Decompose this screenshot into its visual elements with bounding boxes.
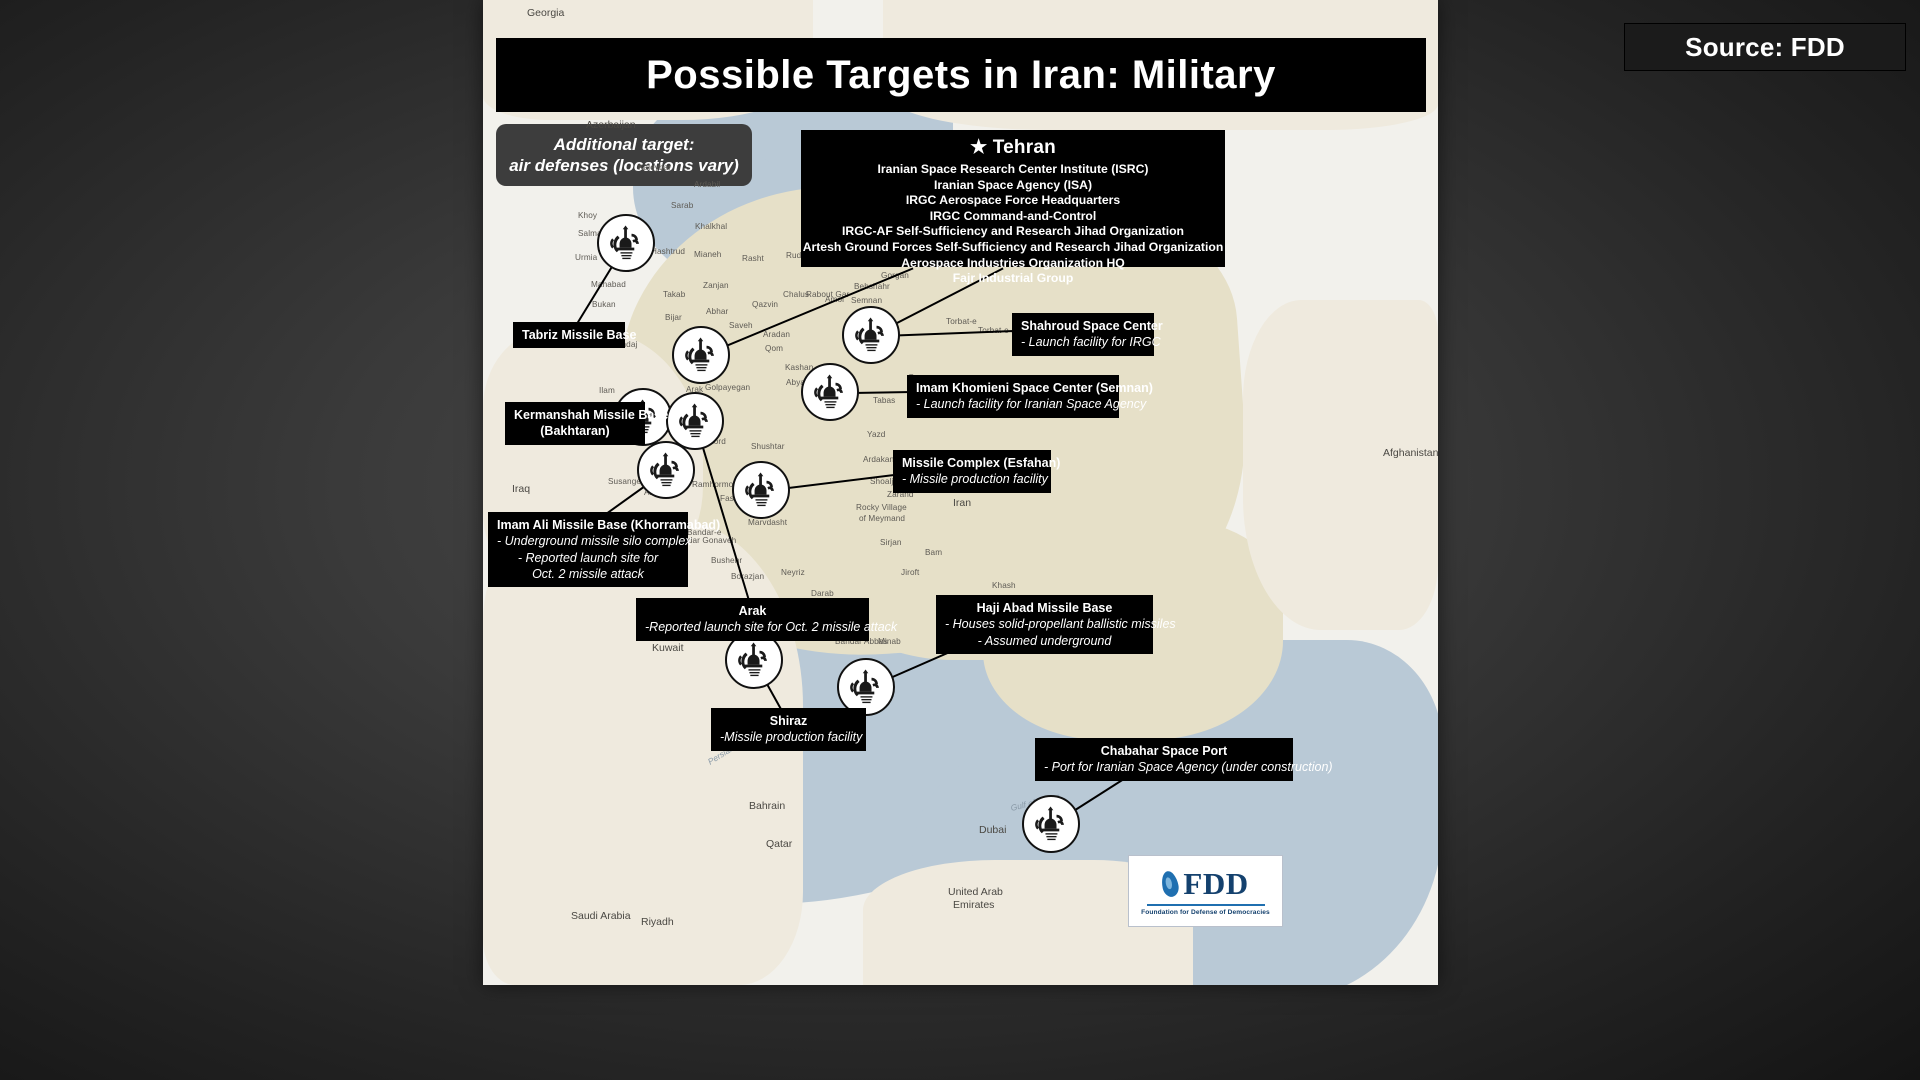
callout-shahroud: Shahroud Space Center- Launch facility f… bbox=[1012, 313, 1154, 356]
map-country-label: Kuwait bbox=[652, 642, 684, 654]
map-place-label: Minab bbox=[878, 637, 901, 646]
irgc-emblem-icon bbox=[678, 332, 724, 378]
callout-line: - Port for Iranian Space Agency (under c… bbox=[1044, 759, 1284, 775]
tehran-item: Artesh Ground Forces Self-Sufficiency an… bbox=[801, 240, 1225, 256]
map-place-label: Rocky Village bbox=[856, 503, 907, 512]
map-place-label: Zanjan bbox=[703, 281, 729, 290]
callout-line: - Underground missile silo complex bbox=[497, 533, 679, 549]
map-country-label: Georgia bbox=[527, 7, 564, 19]
fdd-tagline: Foundation for Defense of Democracies bbox=[1141, 909, 1270, 916]
marker-qazvin[interactable] bbox=[672, 326, 730, 384]
map-place-label: Tabas bbox=[873, 396, 895, 405]
callout-line: -Missile production facility bbox=[720, 729, 857, 745]
marker-imam-ali[interactable] bbox=[637, 441, 695, 499]
map-place-label: Ardabil bbox=[694, 180, 720, 189]
map-place-label: Qazvin bbox=[752, 300, 778, 309]
map-place-label: Khoy bbox=[578, 211, 597, 220]
map-country-label: Qatar bbox=[766, 838, 792, 850]
callout-line: Missile Complex (Esfahan) bbox=[902, 455, 1042, 471]
map-country-label: Bahrain bbox=[749, 800, 785, 812]
map-country-label: Dubai bbox=[979, 824, 1006, 836]
callout-line: Haji Abad Missile Base bbox=[945, 600, 1144, 616]
map-place-label: Darab bbox=[811, 589, 834, 598]
callout-line: Oct. 2 missile attack bbox=[497, 566, 679, 582]
map-place-label: Aradan bbox=[763, 330, 790, 339]
map-place-label: Ardakan bbox=[863, 455, 894, 464]
irgc-emblem-icon bbox=[1028, 801, 1074, 847]
fdd-droplet-icon bbox=[1160, 870, 1181, 899]
additional-target-line2: air defenses (locations vary) bbox=[509, 155, 739, 176]
additional-target-line1: Additional target: bbox=[554, 134, 695, 155]
fdd-wordmark: FDD bbox=[1183, 866, 1248, 902]
callout-shiraz: Shiraz-Missile production facility bbox=[711, 708, 866, 751]
marker-esfahan[interactable] bbox=[732, 461, 790, 519]
callout-haji-abad: Haji Abad Missile Base- Houses solid-pro… bbox=[936, 595, 1153, 654]
tehran-item: Aerospace Industries Organization HQ bbox=[801, 256, 1225, 272]
map-place-label: of Meymand bbox=[859, 514, 905, 523]
irgc-emblem-icon bbox=[603, 220, 649, 266]
callout-imam-khomieni: Imam Khomieni Space Center (Semnan)- Lau… bbox=[907, 375, 1119, 418]
callout-line: Shiraz bbox=[720, 713, 857, 729]
fdd-rule bbox=[1147, 904, 1265, 906]
tehran-items: Iranian Space Research Center Institute … bbox=[801, 162, 1225, 287]
map-place-label: Mianeh bbox=[694, 250, 721, 259]
callout-arak: Arak-Reported launch site for Oct. 2 mis… bbox=[636, 598, 869, 641]
irgc-emblem-icon bbox=[843, 664, 889, 710]
tehran-target-list: ★ Tehran Iranian Space Research Center I… bbox=[801, 130, 1225, 267]
callout-line: - Houses solid-propellant ballistic miss… bbox=[945, 616, 1144, 632]
tehran-item: Fajr Industrial Group bbox=[801, 271, 1225, 287]
callout-line: Shahroud Space Center bbox=[1021, 318, 1145, 334]
map-place-label: Golpayegan bbox=[705, 383, 750, 392]
callout-esfahan: Missile Complex (Esfahan)- Missile produ… bbox=[893, 450, 1051, 493]
page-title: Possible Targets in Iran: Military bbox=[496, 38, 1426, 112]
tehran-item: Iranian Space Agency (ISA) bbox=[801, 178, 1225, 194]
map-infographic: GeorgiaAzerbaijanIraqIranAfghanistanKuwa… bbox=[483, 0, 1438, 985]
marker-shahroud[interactable] bbox=[842, 306, 900, 364]
map-place-label: Urmia bbox=[575, 253, 597, 262]
map-place-label: Qom bbox=[765, 344, 783, 353]
map-country-label: Saudi Arabia bbox=[571, 910, 631, 922]
callout-line: - Assumed underground bbox=[945, 633, 1144, 649]
map-place-label: Sarab bbox=[671, 201, 693, 210]
marker-arak[interactable] bbox=[666, 392, 724, 450]
irgc-emblem-icon bbox=[643, 447, 689, 493]
additional-target-note: Additional target: air defenses (locatio… bbox=[496, 124, 752, 186]
callout-line: (Bakhtaran) bbox=[514, 423, 636, 439]
source-banner-label: Source: FDD bbox=[1685, 32, 1845, 63]
map-place-label: Neyriz bbox=[781, 568, 805, 577]
source-banner: Source: FDD bbox=[1625, 24, 1905, 70]
map-place-label: Jiroft bbox=[901, 568, 919, 577]
callout-tabriz: Tabriz Missile Base bbox=[513, 322, 625, 348]
callout-chabahar: Chabahar Space Port- Port for Iranian Sp… bbox=[1035, 738, 1293, 781]
marker-chabahar[interactable] bbox=[1022, 795, 1080, 853]
callout-kermanshah: Kermanshah Missile Base(Bakhtaran) bbox=[505, 402, 645, 445]
irgc-emblem-icon bbox=[848, 312, 894, 358]
map-place-label: Sirjan bbox=[880, 538, 902, 547]
map-country-label: Riyadh bbox=[641, 916, 674, 928]
map-place-label: Khalkhal bbox=[695, 222, 727, 231]
callout-imam-ali: Imam Ali Missile Base (Khorramabad)- Und… bbox=[488, 512, 688, 587]
map-place-label: Mahabad bbox=[591, 280, 626, 289]
map-place-label: Khash bbox=[992, 581, 1016, 590]
map-place-label: Torbat-e bbox=[946, 317, 977, 326]
irgc-emblem-icon bbox=[672, 398, 718, 444]
map-place-label: Kaleybar bbox=[638, 163, 671, 172]
tehran-item: Iranian Space Research Center Institute … bbox=[801, 162, 1225, 178]
marker-semnan[interactable] bbox=[801, 363, 859, 421]
map-country-label: Emirates bbox=[953, 899, 994, 911]
callout-line: Imam Ali Missile Base (Khorramabad) bbox=[497, 517, 679, 533]
map-country-label: Azerbaijan bbox=[586, 119, 636, 131]
irgc-emblem-icon bbox=[731, 637, 777, 683]
map-place-label: Marvdasht bbox=[748, 518, 787, 527]
map-country-label: Iran bbox=[953, 497, 971, 509]
callout-line: Chabahar Space Port bbox=[1044, 743, 1284, 759]
callout-line: Kermanshah Missile Base bbox=[514, 407, 636, 423]
map-country-label: Iraq bbox=[512, 483, 530, 495]
map-place-label: Saveh bbox=[729, 321, 753, 330]
map-place-label: Shushtar bbox=[751, 442, 785, 451]
fdd-logo: FDD Foundation for Defense of Democracie… bbox=[1128, 855, 1283, 927]
map-place-label: Bam bbox=[925, 548, 942, 557]
map-place-label: Bukan bbox=[592, 300, 616, 309]
map-place-label: Takab bbox=[663, 290, 685, 299]
irgc-emblem-icon bbox=[807, 369, 853, 415]
tehran-heading: ★ Tehran bbox=[801, 136, 1225, 159]
map-place-label: Borazjan bbox=[731, 572, 764, 581]
map-place-label: Yazd bbox=[867, 430, 885, 439]
callout-line: - Launch facility for Iranian Space Agen… bbox=[916, 396, 1110, 412]
map-country-label: Afghanistan bbox=[1383, 447, 1438, 459]
map-place-label: Ilam bbox=[599, 386, 615, 395]
callout-line: - Missile production facility bbox=[902, 471, 1042, 487]
callout-line: - Launch facility for IRGC bbox=[1021, 334, 1145, 350]
callout-line: Tabriz Missile Base bbox=[522, 327, 616, 343]
map-place-label: Rasht bbox=[742, 254, 764, 263]
map-place-label: Abhar bbox=[706, 307, 728, 316]
tehran-item: IRGC Command-and-Control bbox=[801, 209, 1225, 225]
page-title-text: Possible Targets in Iran: Military bbox=[646, 53, 1276, 98]
map-place-label: Bijar bbox=[665, 313, 682, 322]
callout-line: - Reported launch site for bbox=[497, 550, 679, 566]
callout-line: Arak bbox=[645, 603, 860, 619]
irgc-emblem-icon bbox=[738, 467, 784, 513]
tehran-item: IRGC-AF Self-Sufficiency and Research Ji… bbox=[801, 224, 1225, 240]
callout-line: Imam Khomieni Space Center (Semnan) bbox=[916, 380, 1110, 396]
tehran-item: IRGC Aerospace Force Headquarters bbox=[801, 193, 1225, 209]
map-place-label: Hashtrud bbox=[651, 247, 685, 256]
marker-tabriz[interactable] bbox=[597, 214, 655, 272]
callout-line: -Reported launch site for Oct. 2 missile… bbox=[645, 619, 860, 635]
map-country-label: United Arab bbox=[948, 886, 1003, 898]
map-place-label: Semnan bbox=[851, 296, 882, 305]
